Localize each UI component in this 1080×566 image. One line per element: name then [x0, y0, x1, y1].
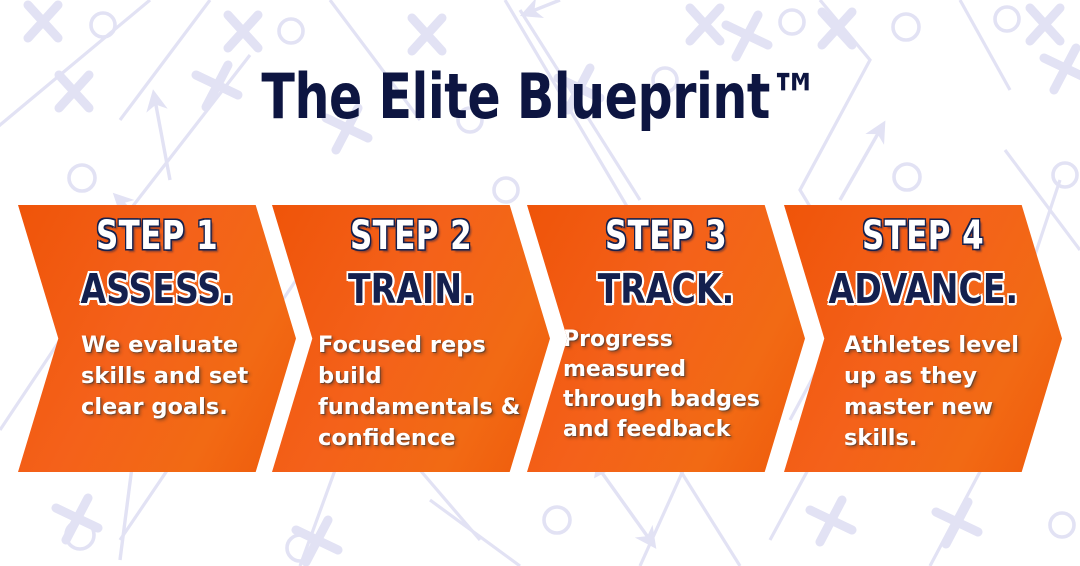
step-chevron-1[interactable]: STEP 1 ASSESS. We evaluate skills and se… [18, 205, 296, 472]
step-title-2: TRAIN. [348, 265, 475, 313]
step-chevron-2[interactable]: STEP 2 TRAIN. Focused reps build fundame… [272, 205, 550, 472]
step-description-1: We evaluate skills and set clear goals. [18, 330, 296, 423]
step-description-2: Focused reps build fundamentals & confid… [272, 330, 550, 454]
step-description-3: Progress measured through badges and fee… [527, 325, 805, 445]
step-chevron-4[interactable]: STEP 4 ADVANCE. Athletes level up as the… [784, 205, 1062, 472]
step-title-3: TRACK. [598, 265, 735, 313]
step-label-2: STEP 2 [350, 214, 472, 259]
step-label-1: STEP 1 [96, 214, 218, 259]
steps-row: STEP 1 ASSESS. We evaluate skills and se… [0, 205, 1080, 472]
step-content-1: STEP 1 ASSESS. We evaluate skills and se… [18, 205, 296, 472]
step-title-4: ADVANCE. [828, 265, 1018, 313]
step-content-4: STEP 4 ADVANCE. Athletes level up as the… [784, 205, 1062, 472]
step-content-3: STEP 3 TRACK. Progress measured through … [527, 205, 805, 472]
step-label-4: STEP 4 [862, 214, 984, 259]
step-chevron-3[interactable]: STEP 3 TRACK. Progress measured through … [527, 205, 805, 472]
step-title-1: ASSESS. [80, 265, 233, 313]
page-title: The Elite Blueprint™ [65, 62, 1015, 132]
step-description-4: Athletes level up as they master new ski… [784, 330, 1062, 454]
step-label-3: STEP 3 [605, 214, 727, 259]
step-content-2: STEP 2 TRAIN. Focused reps build fundame… [272, 205, 550, 472]
infographic-canvas: The Elite Blueprint™ STEP 1 ASSESS. We e… [0, 0, 1080, 566]
